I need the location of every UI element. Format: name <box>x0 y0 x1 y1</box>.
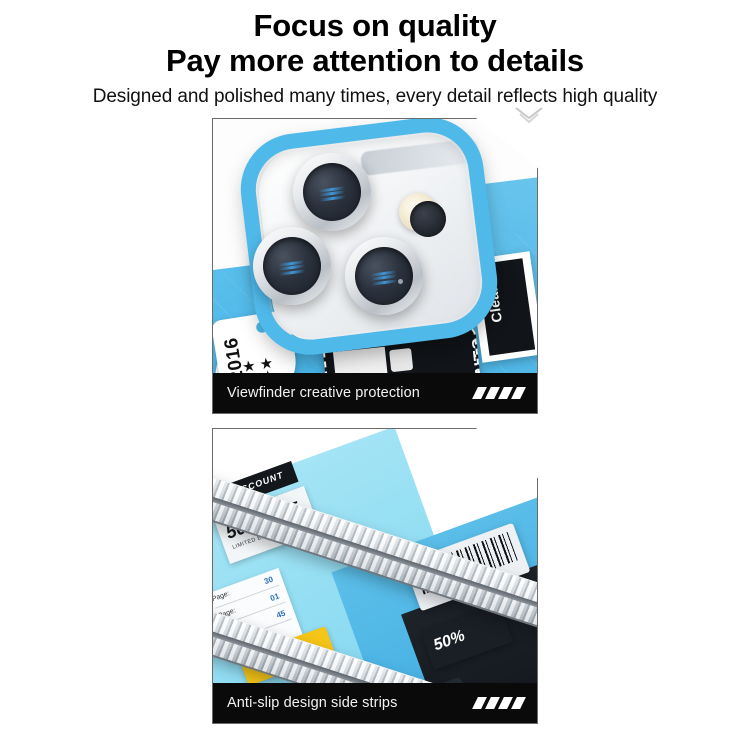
panel-caption-bar: Anti-slip design side strips <box>213 683 537 723</box>
lens-flare-icon <box>370 268 397 284</box>
lens-glass <box>260 234 325 299</box>
lens-flare-icon <box>318 184 345 200</box>
panel-caption-bar: Viewfinder creative protection <box>213 373 537 413</box>
feature-panel-antislip[interactable]: DISCOUNT 50% OFF LIMITED EDITION DISCOUN… <box>212 428 538 724</box>
product-photo-camera-module: 2016 ★ ★★ ★ EVENTS Clearance <box>213 119 537 413</box>
page-header: Focus on quality Pay more attention to d… <box>0 0 750 110</box>
page-title-line-1: Focus on quality <box>0 8 750 43</box>
accent-slash-marks <box>475 697 523 709</box>
page-subtitle: Designed and polished many times, every … <box>0 84 750 110</box>
chevron-down-icon <box>512 104 546 126</box>
sticker-graphic-square <box>389 348 413 372</box>
product-photo-side-strips: DISCOUNT 50% OFF LIMITED EDITION DISCOUN… <box>213 429 537 723</box>
feature-panel-viewfinder[interactable]: 2016 ★ ★★ ★ EVENTS Clearance <box>212 118 538 414</box>
lens-flare-icon <box>278 258 305 274</box>
page-title-line-2: Pay more attention to details <box>0 43 750 78</box>
lens-glass <box>352 244 417 309</box>
lens-glass <box>300 160 365 225</box>
slash-mark <box>511 387 526 399</box>
accent-slash-marks <box>475 387 523 399</box>
panel-caption-text: Anti-slip design side strips <box>227 695 397 711</box>
panel-caption-text: Viewfinder creative protection <box>227 385 420 401</box>
slash-mark <box>511 697 526 709</box>
